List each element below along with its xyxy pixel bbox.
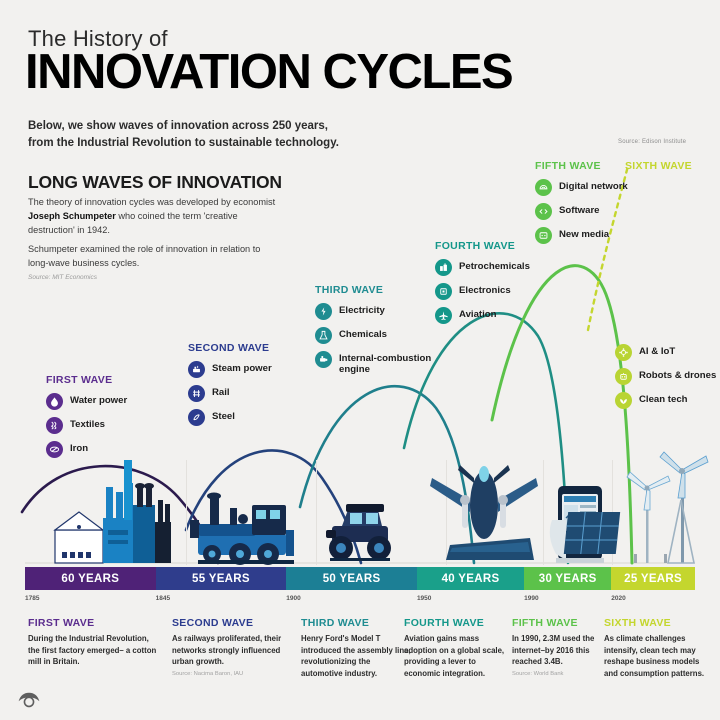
footer-body: As climate challenges intensify, clean t… <box>604 633 710 680</box>
wave-legend-third: THIRD WAVE Electricity Chemicals Interna… <box>315 284 435 383</box>
footer-source: Source: World Bank <box>512 671 604 677</box>
aviation-icon <box>435 307 452 324</box>
wave-legend-item: Water power <box>46 393 127 410</box>
new-media-icon <box>535 227 552 244</box>
rail-icon <box>188 385 205 402</box>
footer-source: Source: Nacima Baron, IAU <box>172 671 292 677</box>
footer-title: THIRD WAVE <box>301 617 414 629</box>
wave-legend-item-label: Petrochemicals <box>459 259 530 272</box>
model-t-illustration <box>326 504 391 561</box>
wave-legend-fourth: FOURTH WAVE Petrochemicals Electronics A… <box>435 240 530 331</box>
internet-users-2016: 3.4B <box>544 657 560 666</box>
engine-icon <box>315 351 332 368</box>
wave-legend-item-label: Electricity <box>339 303 385 316</box>
footer-col-first: FIRST WAVE During the Industrial Revolut… <box>28 617 160 668</box>
footer-col-third: THIRD WAVE Henry Ford's Model T introduc… <box>301 617 414 680</box>
wave-legend-item: New media <box>535 227 628 244</box>
footer-body: As railways proliferated, their networks… <box>172 633 292 668</box>
year-segment[interactable]: 60 YEARS <box>25 567 156 590</box>
electricity-icon <box>315 303 332 320</box>
wave-legend-item-label: Clean tech <box>639 392 688 405</box>
wave-legend-item: Chemicals <box>315 327 435 344</box>
wave-legend-item-label: AI & IoT <box>639 344 675 357</box>
wave-legend-item: Software <box>535 203 628 220</box>
robots-drones-icon <box>615 368 632 385</box>
wave-legend-item: Robots & drones <box>615 368 716 385</box>
year-segment[interactable]: 50 YEARS <box>286 567 417 590</box>
years-bar: 60 YEARS55 YEARS50 YEARS40 YEARS30 YEARS… <box>25 567 695 590</box>
infographic-page: The History of INNOVATION CYCLES Below, … <box>0 0 720 720</box>
wave-legend-item-label: Textiles <box>70 417 105 430</box>
wave-legend-item-label: Aviation <box>459 307 497 320</box>
wave-legend-title: SECOND WAVE <box>188 342 272 354</box>
wave-legend-sixth-title: SIXTH WAVE <box>625 160 692 179</box>
footer-title: SIXTH WAVE <box>604 617 710 629</box>
wave-legend-second: SECOND WAVE Steam power Rail Steel <box>188 342 272 433</box>
wave-legend-item: Iron <box>46 441 127 458</box>
wave-legend-title: FIRST WAVE <box>46 374 127 386</box>
electronics-icon <box>435 283 452 300</box>
iron-icon <box>46 441 63 458</box>
ai-iot-icon <box>615 344 632 361</box>
wave-legend-item: Rail <box>188 385 272 402</box>
petrochemicals-icon <box>435 259 452 276</box>
footer-col-fifth: FIFTH WAVE In 1990, 2.3M used the intern… <box>512 617 604 677</box>
footer-col-second: SECOND WAVE As railways proliferated, th… <box>172 617 292 677</box>
wave-legend-item-label: Internal-combustion engine <box>339 351 435 376</box>
year-ticks: 178518451900195019902020 <box>25 595 695 607</box>
wave-legend-item-label: Software <box>559 203 600 216</box>
footer-col-sixth: SIXTH WAVE As climate challenges intensi… <box>604 617 710 680</box>
clean-tech-icon <box>615 392 632 409</box>
footer-body-fifth: In 1990, 2.3M used the internet–by 2016 … <box>512 633 604 668</box>
wave-legend-sixth: AI & IoT Robots & drones Clean tech <box>615 344 716 416</box>
textiles-icon <box>46 417 63 434</box>
footer-body: Aviation gains mass adoption on a global… <box>404 633 507 680</box>
wave-legend-item-label: Digital network <box>559 179 628 192</box>
year-tick: 1845 <box>156 595 170 602</box>
year-tick: 1950 <box>417 595 431 602</box>
chemicals-icon <box>315 327 332 344</box>
wave-legend-title: THIRD WAVE <box>315 284 435 296</box>
wave-legend-item: Steel <box>188 409 272 426</box>
footer-col-fourth: FOURTH WAVE Aviation gains mass adoption… <box>404 617 507 680</box>
wave-legend-item: Electricity <box>315 303 435 320</box>
wave-legend-first: FIRST WAVE Water power Textiles Iron <box>46 374 127 465</box>
water-power-icon <box>46 393 63 410</box>
wave-legend-item-label: Rail <box>212 385 230 398</box>
wave-legend-item: Internal-combustion engine <box>315 351 435 376</box>
wave-legend-item-label: Steam power <box>212 361 272 374</box>
wave-legend-item-label: Water power <box>70 393 127 406</box>
wave-legend-item-label: Steel <box>212 409 235 422</box>
footer-body: During the Industrial Revolution, the fi… <box>28 633 160 668</box>
footer-title: FOURTH WAVE <box>404 617 507 629</box>
brand-logo <box>16 688 42 708</box>
wave-legend-item-label: Iron <box>70 441 88 454</box>
year-tick: 1785 <box>25 595 39 602</box>
year-segment[interactable]: 25 YEARS <box>611 567 695 590</box>
wave-legend-item: Aviation <box>435 307 530 324</box>
footer-title: FIFTH WAVE <box>512 617 604 629</box>
wave-legend-item: Digital network <box>535 179 628 196</box>
software-icon <box>535 203 552 220</box>
steel-icon <box>188 409 205 426</box>
wave-legend-item: Electronics <box>435 283 530 300</box>
year-segment[interactable]: 55 YEARS <box>156 567 287 590</box>
year-segment[interactable]: 30 YEARS <box>524 567 611 590</box>
year-tick: 2020 <box>611 595 625 602</box>
wave-legend-item: Steam power <box>188 361 272 378</box>
footer-title: FIRST WAVE <box>28 617 160 629</box>
footer-body: Henry Ford's Model T introduced the asse… <box>301 633 414 680</box>
wave-legend-fifth: FIFTH WAVE Digital network Software New … <box>535 160 628 251</box>
factory-illustration <box>55 460 171 563</box>
digital-network-icon <box>535 179 552 196</box>
wave-legend-title: SIXTH WAVE <box>625 160 692 172</box>
footer-body-e: . <box>561 657 563 666</box>
internet-users-1990: 2.3M <box>543 634 560 643</box>
wave-legend-item: Petrochemicals <box>435 259 530 276</box>
year-segment[interactable]: 40 YEARS <box>417 567 524 590</box>
year-tick: 1990 <box>524 595 538 602</box>
footer-title: SECOND WAVE <box>172 617 292 629</box>
wave-legend-item-label: Chemicals <box>339 327 387 340</box>
wave-legend-item-label: Electronics <box>459 283 511 296</box>
wave-legend-title: FOURTH WAVE <box>435 240 530 252</box>
wave-legend-item: Clean tech <box>615 392 716 409</box>
year-tick: 1900 <box>286 595 300 602</box>
wave-legend-item: Textiles <box>46 417 127 434</box>
wave-legend-item-label: Robots & drones <box>639 368 716 381</box>
wave-legend-item-label: New media <box>559 227 609 240</box>
footer-body-a: In 1990, <box>512 634 543 643</box>
wave-legend-item: AI & IoT <box>615 344 716 361</box>
locomotive-illustration <box>190 493 294 566</box>
wave-legend-title: FIFTH WAVE <box>535 160 628 172</box>
steam-power-icon <box>188 361 205 378</box>
